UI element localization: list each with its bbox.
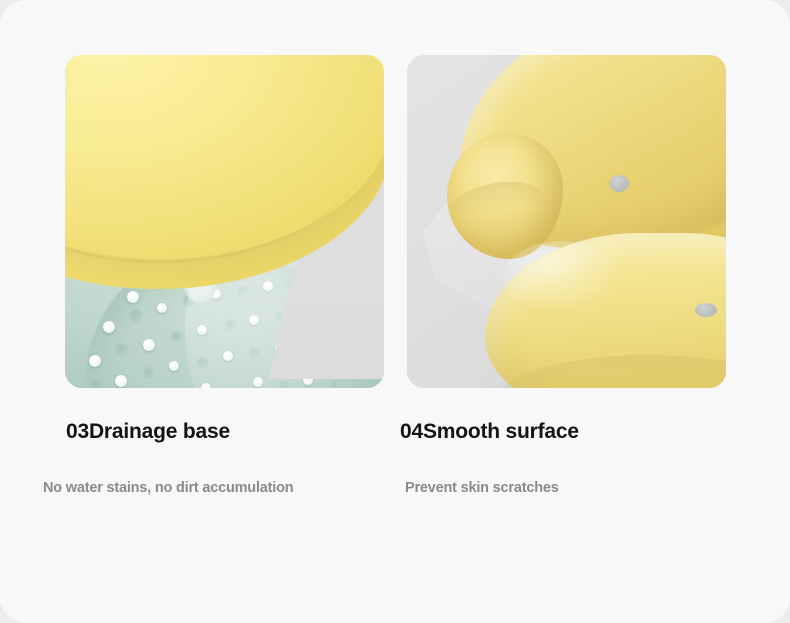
drainage-dimple bbox=[279, 381, 291, 388]
drainage-hole bbox=[169, 361, 179, 371]
seat-highlight bbox=[503, 241, 623, 313]
drainage-hole bbox=[253, 377, 263, 387]
drainage-hole bbox=[263, 281, 273, 291]
feature-card-smooth-surface[interactable] bbox=[407, 55, 726, 388]
feature-title-03: 03Drainage base bbox=[43, 420, 373, 444]
drainage-dimple bbox=[225, 319, 237, 331]
drainage-hole bbox=[197, 325, 207, 335]
drainage-dimple bbox=[249, 347, 261, 359]
drainage-dimple bbox=[129, 309, 143, 323]
drainage-hole bbox=[201, 383, 211, 388]
drainage-dimple bbox=[237, 285, 249, 297]
drainage-hole bbox=[143, 339, 155, 351]
drainage-hole bbox=[223, 351, 233, 361]
pivot-knob-icon bbox=[609, 175, 629, 192]
feature-subtitle-04: Prevent skin scratches bbox=[400, 444, 730, 496]
page-panel: 03Drainage base No water stains, no dirt… bbox=[0, 0, 790, 623]
drainage-dimple bbox=[89, 379, 103, 388]
caption-drainage-base: 03Drainage base No water stains, no dirt… bbox=[43, 420, 373, 496]
drainage-hole bbox=[103, 321, 115, 333]
feature-card-drainage-base[interactable] bbox=[65, 55, 384, 388]
drainage-dimple bbox=[197, 357, 209, 369]
drainage-hole bbox=[157, 303, 167, 313]
drainage-dimple bbox=[171, 331, 183, 343]
caption-smooth-surface: 04Smooth surface Prevent skin scratches bbox=[400, 420, 730, 496]
drainage-dimple bbox=[115, 343, 129, 357]
drainage-hole bbox=[89, 355, 101, 367]
product-image-drainage-base bbox=[65, 55, 384, 388]
drainage-hole bbox=[249, 315, 259, 325]
feature-title-04: 04Smooth surface bbox=[400, 420, 730, 444]
lower-pivot-knob-icon bbox=[695, 303, 717, 317]
drainage-dimple bbox=[329, 379, 341, 388]
product-image-smooth-surface bbox=[407, 55, 726, 388]
drainage-hole bbox=[127, 291, 139, 303]
drainage-dimple bbox=[143, 367, 155, 379]
drainage-hole bbox=[115, 375, 127, 387]
feature-subtitle-03: No water stains, no dirt accumulation bbox=[43, 444, 373, 496]
